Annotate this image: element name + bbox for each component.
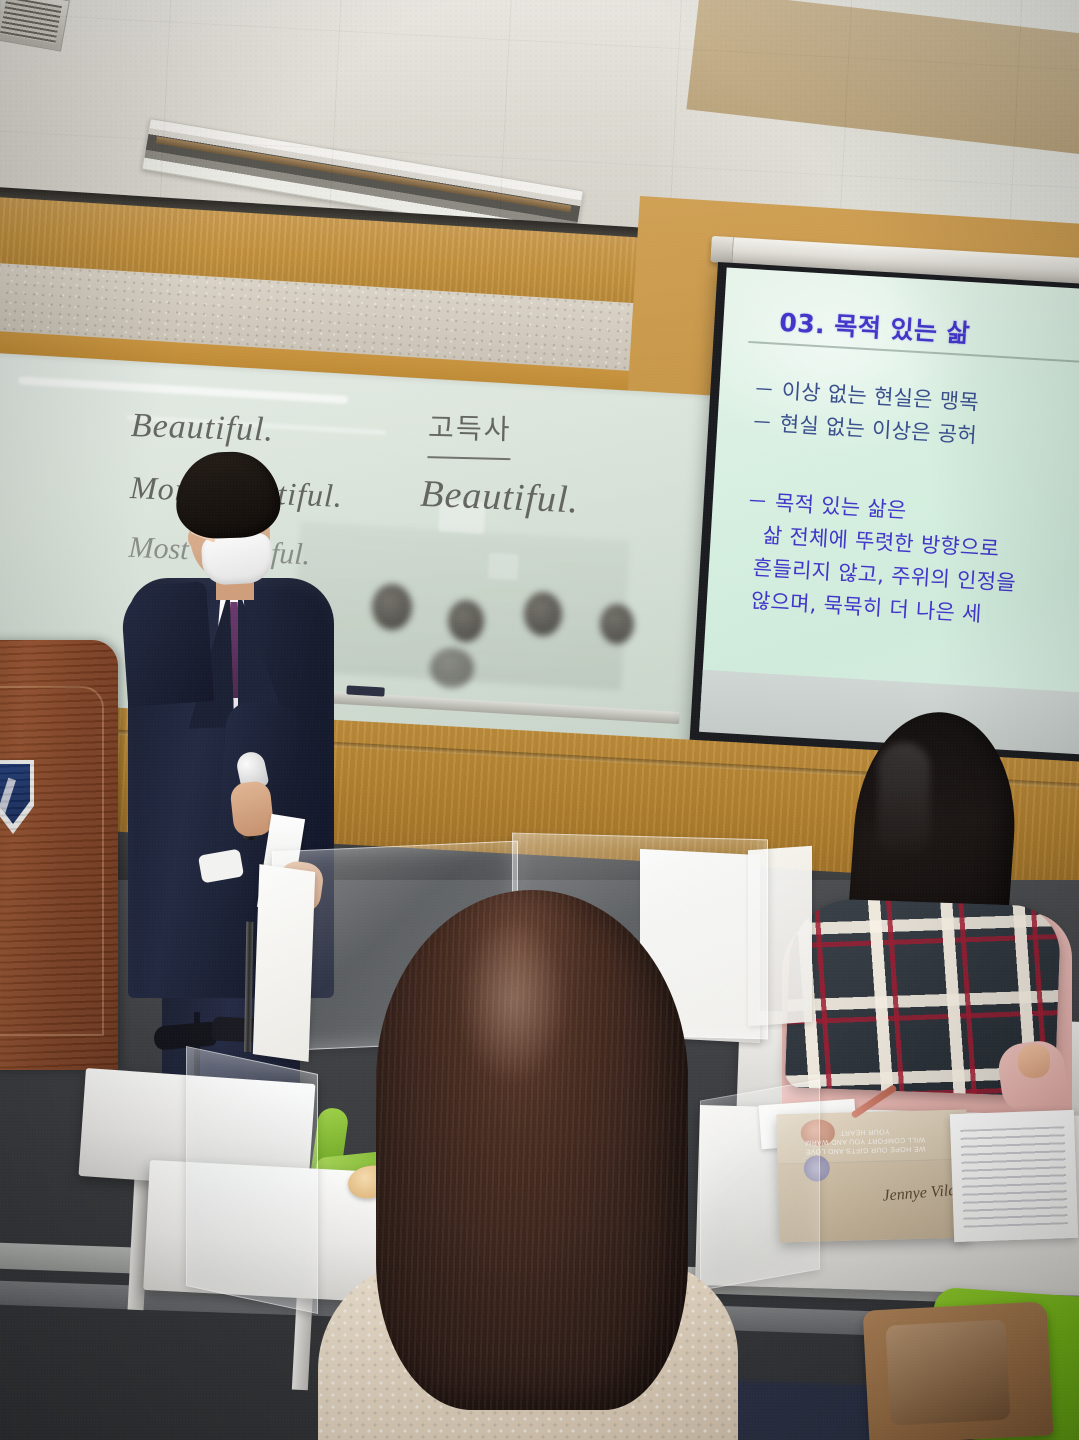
reflected-audience-head bbox=[524, 592, 562, 636]
crest-band bbox=[0, 778, 16, 819]
ceiling-beam bbox=[686, 0, 1079, 157]
speaker-shoulder bbox=[120, 581, 214, 707]
reflected-audience-head bbox=[372, 584, 412, 630]
student-front bbox=[318, 890, 748, 1440]
speaker-hair bbox=[175, 450, 282, 540]
printed-handout bbox=[950, 1110, 1078, 1242]
podium bbox=[0, 640, 118, 1070]
reflected-audience-head bbox=[430, 648, 474, 688]
gift-box-logo-text: Jennye Vila bbox=[882, 1182, 957, 1206]
hair-highlight bbox=[458, 916, 568, 1086]
desk-white-panel bbox=[253, 864, 315, 1062]
hair-highlight bbox=[878, 742, 930, 862]
whiteboard-text-line1: Beautiful. bbox=[130, 407, 274, 450]
screen-housing-cap bbox=[710, 236, 734, 263]
whiteboard-korean-sub: Beautiful. bbox=[419, 472, 580, 523]
student-hand bbox=[1018, 1044, 1050, 1078]
podium-panel bbox=[0, 686, 104, 1036]
ac-grille-icon bbox=[0, 0, 70, 52]
shoulder-bag bbox=[863, 1301, 1054, 1440]
whiteboard-reflection bbox=[18, 376, 348, 404]
reflected-audience-head bbox=[448, 600, 484, 642]
whiteboard-reflection bbox=[487, 553, 518, 581]
whiteboard-korean-heading: 고득사 bbox=[427, 406, 512, 460]
student-right bbox=[782, 712, 1079, 1132]
speaker-hand bbox=[229, 780, 274, 838]
university-crest-icon bbox=[0, 760, 34, 834]
bag-fold bbox=[885, 1319, 1010, 1425]
lecture-hall-photo: Beautiful. More beautiful. Most beautifu… bbox=[0, 0, 1079, 1440]
reflected-audience-head bbox=[600, 604, 634, 644]
projection-screen: 03. 목적 있는 삶 － 이상 없는 현실은 맹목 － 현실 없는 이상은 공… bbox=[689, 262, 1079, 780]
crest-shield bbox=[0, 764, 30, 824]
acrylic-divider bbox=[186, 1046, 318, 1314]
